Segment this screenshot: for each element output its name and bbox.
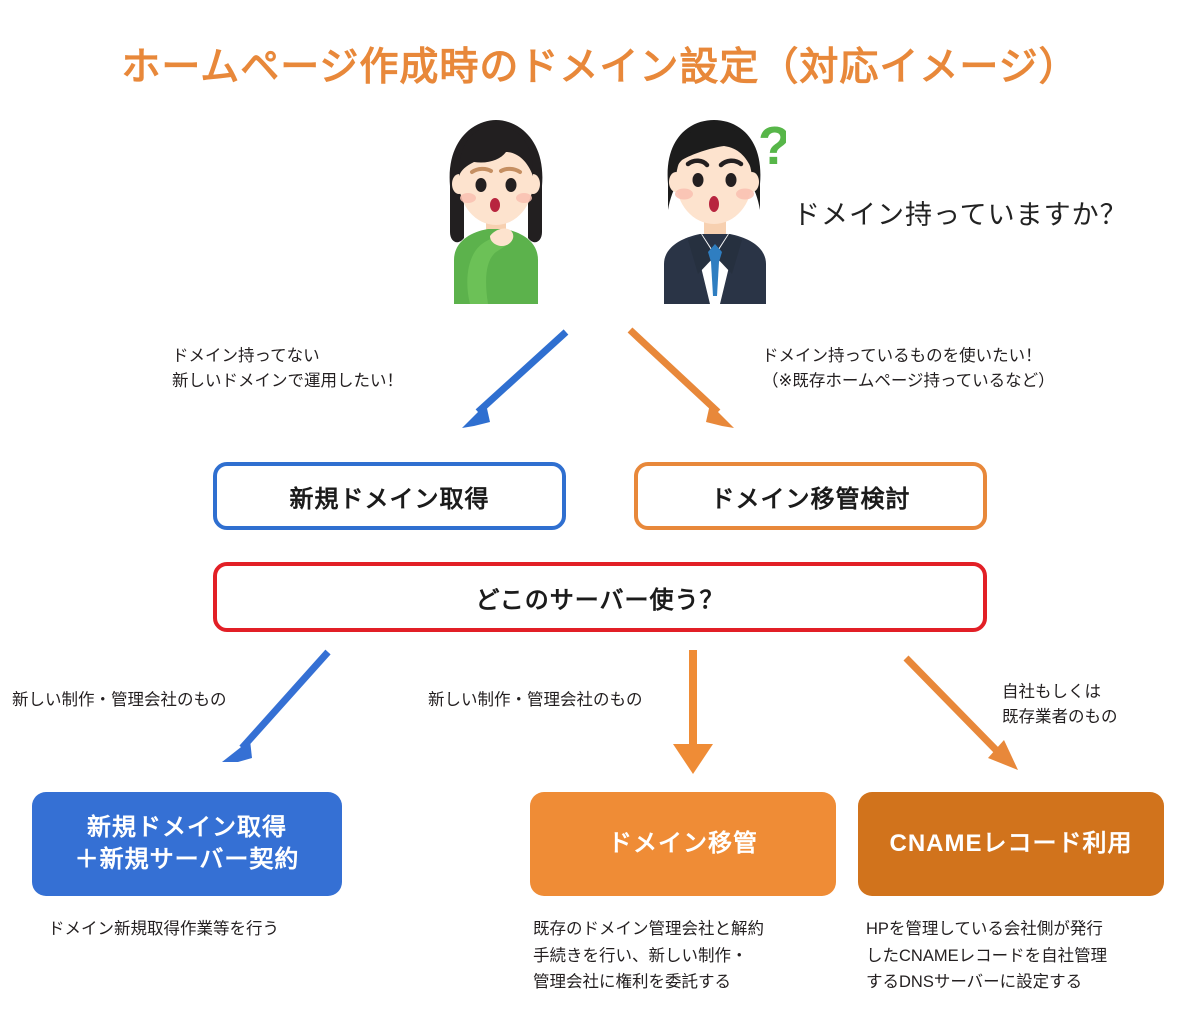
result-2-note-line2: 手続きを行い、新しい制作・ (533, 943, 764, 970)
box-which-server-question[interactable]: どこのサーバー使う？ (213, 562, 987, 632)
result-3-note-line2: したCNAMEレコードを自社管理 (866, 943, 1107, 970)
arrow-orange-down-straight (673, 650, 713, 774)
result-2-note-line3: 管理会社に権利を委託する (533, 969, 764, 996)
result-box-domain-transfer[interactable]: ドメイン移管 (530, 792, 836, 896)
branch-caption-left-line2: 新しいドメインで運用したい！ (172, 369, 403, 394)
server-caption-right: 自社もしくは 既存業者のもの (1002, 680, 1118, 730)
branch-caption-left-line1: ドメイン持ってない (172, 344, 403, 369)
branch-caption-right-line2: （※既存ホームページ持っているなど） (762, 369, 1055, 394)
server-caption-right-line2: 既存業者のもの (1002, 705, 1118, 730)
result-note-new-domain: ドメイン新規取得作業等を行う (48, 916, 279, 943)
arrow-blue-down-left (222, 652, 328, 762)
result-box-cname-record[interactable]: CNAMEレコード利用 (858, 792, 1164, 896)
branch-arrows (430, 290, 790, 450)
branch-caption-left: ドメイン持ってない 新しいドメインで運用したい！ (172, 344, 403, 394)
result-3-note-line3: するDNSサーバーに設定する (866, 969, 1107, 996)
result-note-cname-record: HPを管理している会社側が発行 したCNAMEレコードを自社管理 するDNSサー… (866, 916, 1107, 996)
server-caption-left: 新しい制作・管理会社のもの (12, 688, 227, 713)
result-2-label-line1: ドメイン移管 (608, 828, 758, 860)
arrow-orange-right (630, 330, 734, 428)
intro-question-text: ドメイン持っていますか？ (793, 193, 1128, 232)
result-note-domain-transfer: 既存のドメイン管理会社と解約 手続きを行い、新しい制作・ 管理会社に権利を委託す… (533, 916, 764, 996)
server-caption-middle: 新しい制作・管理会社のもの (428, 688, 643, 713)
page-title: ホームページ作成時のドメイン設定（対応イメージ） (0, 36, 1200, 92)
server-caption-right-line1: 自社もしくは (1002, 680, 1118, 705)
result-2-note-line1: 既存のドメイン管理会社と解約 (533, 916, 764, 943)
result-1-note-line1: ドメイン新規取得作業等を行う (48, 916, 279, 943)
result-box-new-domain-and-server[interactable]: 新規ドメイン取得 ＋新規サーバー契約 (32, 792, 342, 896)
arrow-blue-left (462, 332, 566, 428)
box-new-domain-acquisition[interactable]: 新規ドメイン取得 (213, 462, 566, 530)
thinking-woman-illustration (430, 114, 562, 304)
result-1-label-line1: 新規ドメイン取得 (75, 812, 300, 844)
branch-caption-right-line1: ドメイン持っているものを使いたい！ (762, 344, 1055, 369)
result-1-label-line2: ＋新規サーバー契約 (75, 844, 300, 876)
confused-businessman-illustration: ? (646, 114, 786, 304)
branch-caption-right: ドメイン持っているものを使いたい！ （※既存ホームページ持っているなど） (762, 344, 1055, 394)
result-3-label-line1: CNAMEレコード利用 (890, 828, 1133, 860)
question-mark-icon: ? (758, 116, 786, 176)
flowchart-canvas: ホームページ作成時のドメイン設定（対応イメージ） (0, 0, 1200, 1031)
box-domain-transfer-review[interactable]: ドメイン移管検討 (634, 462, 987, 530)
result-3-note-line1: HPを管理している会社側が発行 (866, 916, 1107, 943)
